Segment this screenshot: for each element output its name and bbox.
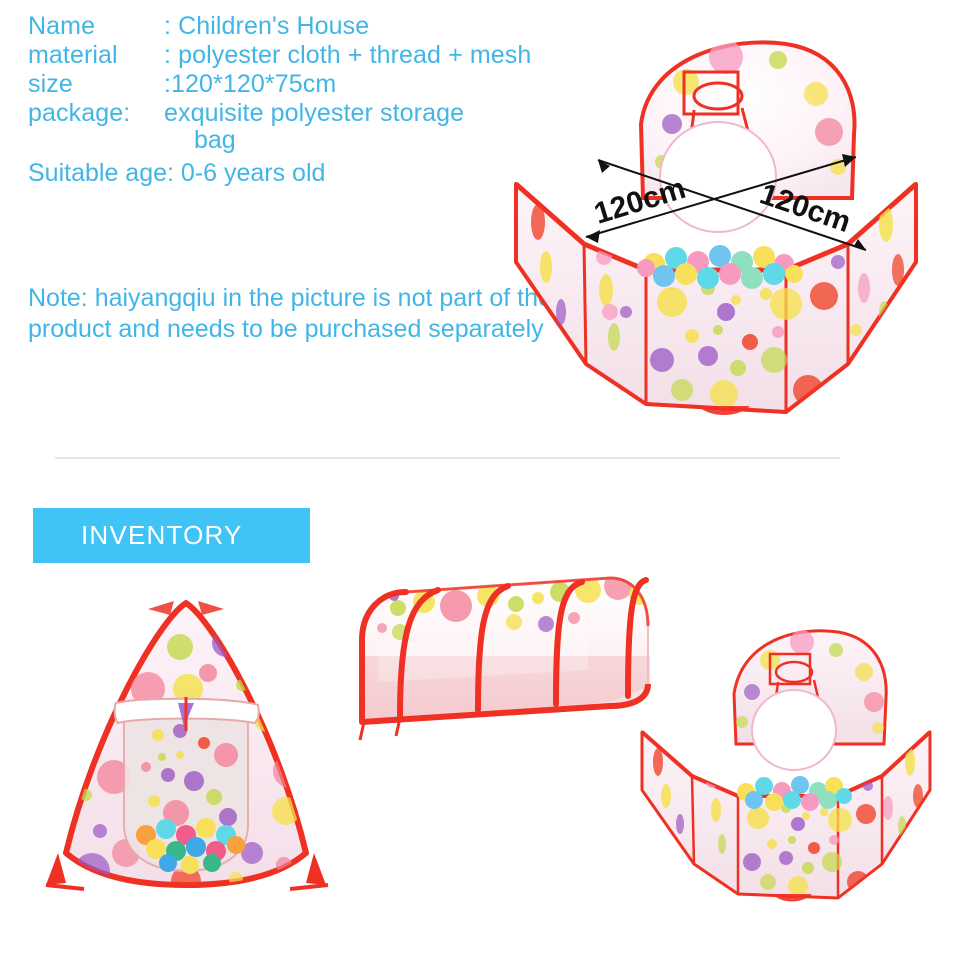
spec-label-size: size [28, 72, 164, 97]
spec-value-size: :120*120*75cm [164, 72, 336, 97]
spec-label-package: package: [28, 101, 164, 126]
main-product-image: 120cm 120cm [486, 12, 936, 432]
spec-value-material: : polyester cloth + thread + mesh [164, 43, 531, 68]
inventory-banner-label: INVENTORY [81, 520, 243, 551]
section-divider [55, 457, 840, 459]
inventory-banner: INVENTORY [33, 508, 310, 563]
product-listing-page: Name : Children's House material : polye… [0, 0, 960, 960]
spec-label-name: Name [28, 14, 164, 39]
product-note: Note: haiyangqiu in the picture is not p… [28, 283, 558, 345]
inventory-item-tunnel [338, 560, 668, 745]
spec-value-name: : Children's House [164, 14, 369, 39]
plastic-balls-cluster [737, 776, 852, 811]
inventory-item-ball-pit [630, 610, 940, 910]
spec-value-package: exquisite polyester storage [164, 101, 464, 126]
spec-label-material: material [28, 43, 164, 68]
inventory-item-teepee [28, 585, 348, 920]
